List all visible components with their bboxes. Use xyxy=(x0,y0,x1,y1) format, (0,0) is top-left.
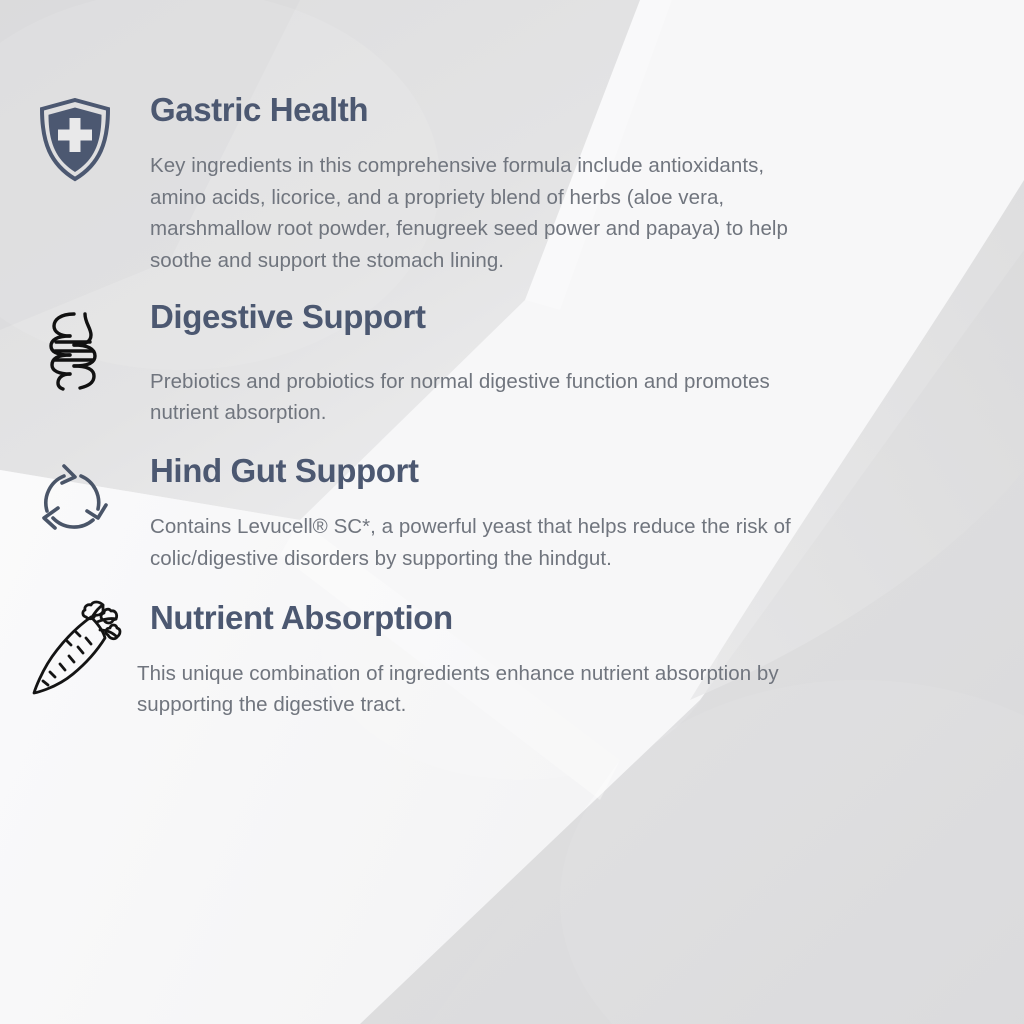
feature-text-wrapper: Digestive Support Prebiotics and probiot… xyxy=(150,299,1024,429)
feature-text-wrapper: Gastric Health Key ingredients in this c… xyxy=(150,92,1024,277)
feature-icon-wrapper xyxy=(0,299,150,391)
feature-body: Key ingredients in this comprehensive fo… xyxy=(150,150,810,276)
feature-text-wrapper: Nutrient Absorption This unique combinat… xyxy=(150,600,1024,720)
feature-icon-wrapper xyxy=(0,92,150,182)
feature-gastric-health: Gastric Health Key ingredients in this c… xyxy=(0,92,1024,277)
feature-title: Nutrient Absorption xyxy=(150,600,994,636)
intestine-icon xyxy=(44,311,106,391)
carrot-icon xyxy=(27,600,123,700)
feature-icon-wrapper xyxy=(0,453,150,537)
cycle-arrows-icon xyxy=(36,463,114,537)
feature-title: Gastric Health xyxy=(150,92,994,128)
feature-hind-gut-support: Hind Gut Support Contains Levucell® SC*,… xyxy=(0,453,1024,574)
feature-body: Contains Levucell® SC*, a powerful yeast… xyxy=(150,511,810,574)
feature-icon-wrapper xyxy=(0,600,150,700)
feature-body: Prebiotics and probiotics for normal dig… xyxy=(150,366,810,429)
feature-title: Digestive Support xyxy=(150,299,994,335)
feature-nutrient-absorption: Nutrient Absorption This unique combinat… xyxy=(0,600,1024,720)
features-page: Gastric Health Key ingredients in this c… xyxy=(0,0,1024,1024)
feature-title: Hind Gut Support xyxy=(150,453,994,489)
shield-cross-icon xyxy=(38,98,112,182)
feature-body: This unique combination of ingredients e… xyxy=(137,658,797,721)
feature-digestive-support: Digestive Support Prebiotics and probiot… xyxy=(0,299,1024,429)
feature-text-wrapper: Hind Gut Support Contains Levucell® SC*,… xyxy=(150,453,1024,574)
